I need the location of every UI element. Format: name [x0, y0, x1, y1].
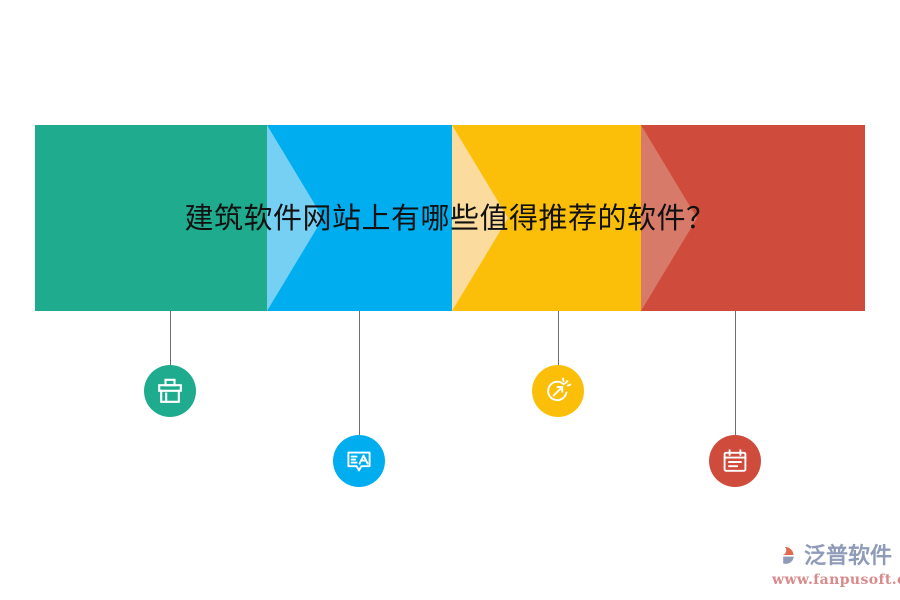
color-band-strip: [35, 125, 865, 311]
stem-boost: [558, 311, 559, 365]
band-yellow-chevron: [452, 125, 508, 311]
brand-logo: 泛普软件 www.fanpusoft.com: [772, 538, 892, 592]
node-calendar[interactable]: [709, 435, 761, 487]
stem-translate: [359, 311, 360, 435]
band-blue: [267, 125, 452, 311]
node-boost[interactable]: [532, 365, 584, 417]
banner-canvas: 建筑软件网站上有哪些值得推荐的软件？: [0, 0, 900, 600]
node-shop[interactable]: [144, 365, 196, 417]
calendar-note-icon: [721, 447, 749, 475]
shop-icon: [156, 377, 184, 405]
brand-url: www.fanpusoft.com: [772, 572, 892, 588]
band-red-chevron: [641, 125, 697, 311]
band-red: [641, 125, 865, 311]
band-green: [35, 125, 267, 311]
rocket-circle-icon: [544, 377, 572, 405]
band-blue-chevron: [267, 125, 323, 311]
fanpu-logo-icon: [772, 539, 802, 569]
translate-bubble-icon: [345, 447, 373, 475]
band-yellow: [452, 125, 641, 311]
node-translate[interactable]: [333, 435, 385, 487]
brand-row: 泛普软件: [772, 538, 892, 570]
stem-calendar: [735, 311, 736, 435]
brand-name: 泛普软件: [804, 538, 892, 570]
stem-shop: [170, 311, 171, 365]
